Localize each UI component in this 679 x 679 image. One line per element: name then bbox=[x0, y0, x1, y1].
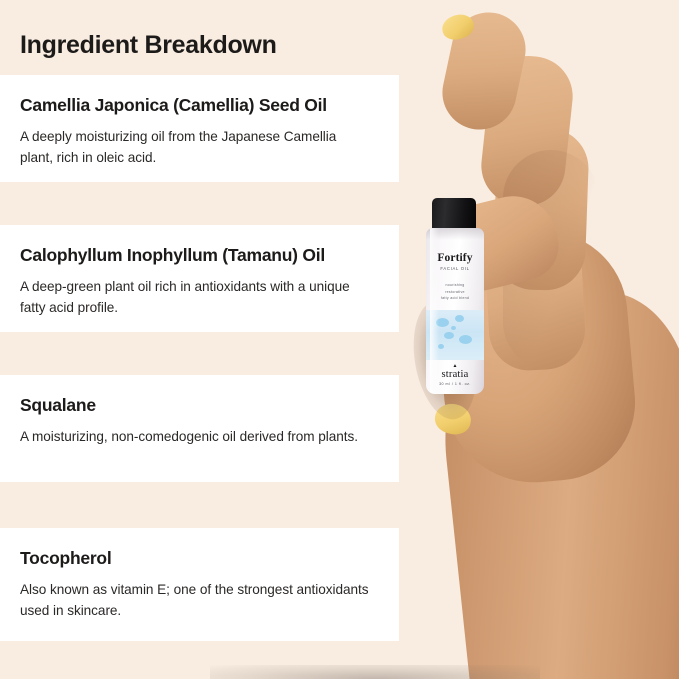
bubble-icon bbox=[455, 315, 464, 322]
ingredient-description: Also known as vitamin E; one of the stro… bbox=[20, 579, 370, 621]
ingredient-breakdown-page: Ingredient Breakdown Camellia Japonica (… bbox=[0, 0, 679, 679]
ingredient-card-4: Tocopherol Also known as vitamin E; one … bbox=[0, 528, 399, 641]
bottle-shoulder bbox=[426, 228, 484, 240]
product-label-title: Fortify bbox=[426, 252, 484, 264]
product-photo: Fortify FACIAL OIL nourishing restorativ… bbox=[399, 0, 679, 679]
page-title: Ingredient Breakdown bbox=[20, 30, 277, 60]
ingredient-card-1: Camellia Japonica (Camellia) Seed Oil A … bbox=[0, 75, 399, 182]
ingredient-name: Tocopherol bbox=[20, 548, 379, 570]
product-label-claims: nourishing restorative fatty acid blend bbox=[426, 282, 484, 302]
bubble-icon bbox=[438, 344, 444, 349]
bubble-icon bbox=[444, 332, 454, 339]
content-column: Ingredient Breakdown Camellia Japonica (… bbox=[0, 0, 399, 679]
bubble-icon bbox=[436, 318, 449, 327]
product-bottle: Fortify FACIAL OIL nourishing restorativ… bbox=[426, 198, 484, 394]
product-volume: 30 ml / 1 fl. oz. bbox=[426, 382, 484, 386]
product-label-subtitle: FACIAL OIL bbox=[426, 266, 484, 271]
bottle-body: Fortify FACIAL OIL nourishing restorativ… bbox=[426, 228, 484, 394]
ingredient-card-2: Calophyllum Inophyllum (Tamanu) Oil A de… bbox=[0, 225, 399, 332]
ingredient-description: A deeply moisturizing oil from the Japan… bbox=[20, 126, 370, 168]
ingredient-name: Calophyllum Inophyllum (Tamanu) Oil bbox=[20, 245, 379, 267]
floor-shadow bbox=[210, 665, 540, 679]
ingredient-name: Camellia Japonica (Camellia) Seed Oil bbox=[20, 95, 379, 117]
bubble-graphic-band bbox=[426, 310, 484, 360]
ingredient-description: A deep-green plant oil rich in antioxida… bbox=[20, 276, 370, 318]
bottle-cap bbox=[432, 198, 476, 231]
bubble-icon bbox=[451, 326, 456, 330]
brand-name: stratia bbox=[426, 369, 484, 380]
bubble-icon bbox=[459, 335, 472, 344]
ingredient-name: Squalane bbox=[20, 395, 379, 417]
ingredient-card-3: Squalane A moisturizing, non-comedogenic… bbox=[0, 375, 399, 482]
ingredient-description: A moisturizing, non-comedogenic oil deri… bbox=[20, 426, 370, 447]
